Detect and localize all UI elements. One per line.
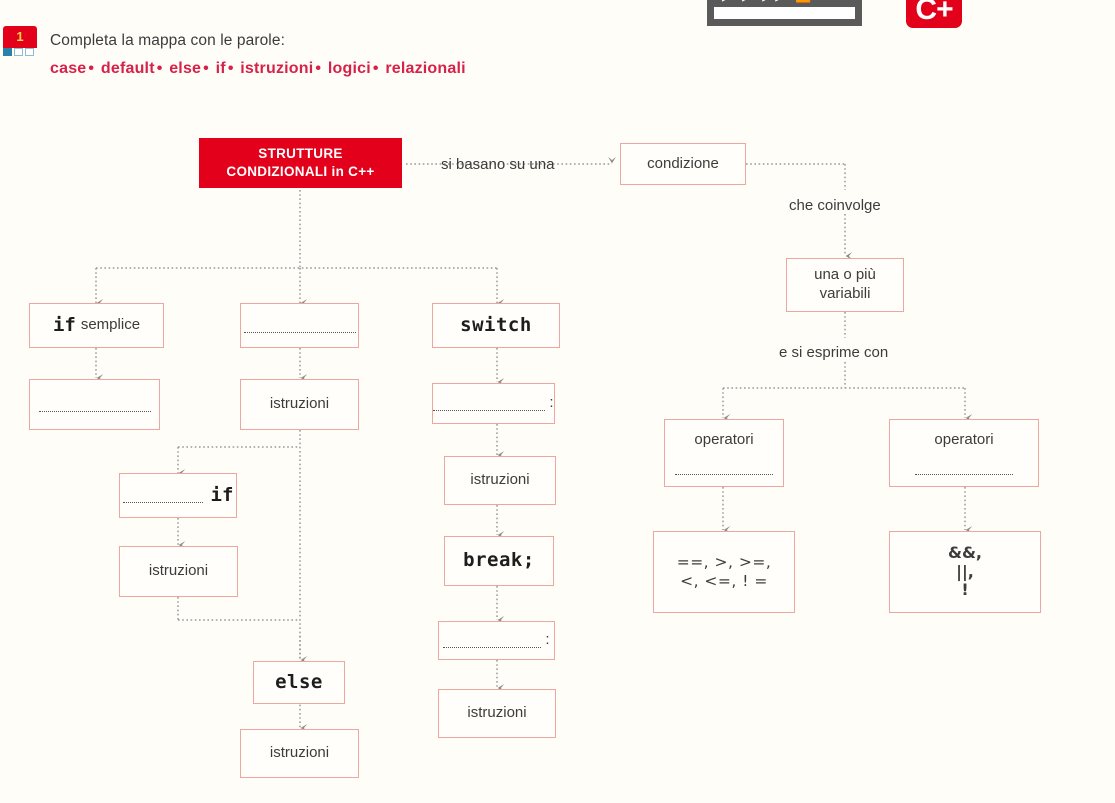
worksheet-page: 1 Completa la mappa con le parole: case•… — [0, 0, 1115, 803]
node-col2-istruzioni: istruzioni — [240, 379, 359, 430]
node-switch-istruzioni-1: istruzioni — [444, 456, 556, 505]
node-switch-istruzioni-2: istruzioni — [438, 689, 556, 738]
map-connectors — [0, 0, 1115, 803]
node-operatori-label-1: operatori — [694, 431, 753, 450]
answer-blank-default[interactable] — [443, 633, 541, 648]
answer-blank-else-if[interactable] — [244, 318, 356, 333]
node-else-istruzioni: istruzioni — [240, 729, 359, 778]
colon-default: : — [545, 631, 549, 650]
relational-ops-line2: <, <=, ! = — [680, 572, 768, 590]
node-operatori-logici-blank[interactable]: operatori — [889, 419, 1039, 487]
answer-blank-relazionali[interactable] — [675, 460, 773, 475]
node-col2-top-blank[interactable] — [240, 303, 359, 348]
node-operatori-label-2: operatori — [934, 431, 993, 450]
colon-case: : — [549, 394, 553, 413]
edge-label-si-basano: si basano su una — [441, 156, 554, 173]
node-if-semplice: ifsemplice — [29, 303, 164, 348]
node-switch-default-blank[interactable]: : — [438, 621, 555, 660]
map-title-line1: STRUTTURE — [258, 146, 342, 161]
answer-blank-case[interactable] — [433, 396, 545, 411]
node-una-o-piu-variabili: una o più variabili — [786, 258, 904, 312]
edge-label-che-coinvolge: che coinvolge — [789, 197, 881, 214]
node-relational-operators: ==, >, >=, <, <=, ! = — [653, 531, 795, 613]
node-break: break; — [444, 536, 554, 586]
node-if-semplice-child-blank[interactable] — [29, 379, 160, 430]
node-else-if-blank[interactable]: if — [119, 473, 237, 518]
relational-ops-line1: ==, >, >=, — [677, 553, 772, 571]
concept-map: STRUTTURE CONDIZIONALI in C++ si basano … — [0, 0, 1115, 803]
node-switch-case-blank[interactable]: : — [432, 383, 555, 424]
logical-ops-line3: ! — [961, 580, 968, 599]
edge-label-e-si-esprime: e si esprime con — [779, 344, 888, 361]
node-switch: switch — [432, 303, 560, 348]
keyword-if-mono: if — [53, 314, 76, 338]
answer-blank-else[interactable] — [123, 488, 203, 503]
answer-blank-logici[interactable] — [915, 460, 1013, 475]
logical-ops-line1: &&, — [948, 543, 982, 562]
node-variabili-line1: una o più — [814, 266, 876, 283]
map-title-line2: CONDIZIONALI in C++ — [226, 164, 374, 179]
map-title-node: STRUTTURE CONDIZIONALI in C++ — [199, 138, 402, 188]
keyword-if-mono-2: if — [211, 484, 234, 508]
node-variabili-line2: variabili — [820, 285, 871, 302]
node-if-semplice-rest: semplice — [81, 316, 140, 335]
node-condizione: condizione — [620, 143, 746, 185]
node-else-if-istruzioni: istruzioni — [119, 546, 238, 597]
logical-ops-line2: ||, — [956, 562, 974, 581]
node-logical-operators: &&, ||, ! — [889, 531, 1041, 613]
node-operatori-relazionali-blank[interactable]: operatori — [664, 419, 784, 487]
answer-blank-istruzioni-1[interactable] — [39, 397, 151, 412]
node-else: else — [253, 661, 345, 704]
